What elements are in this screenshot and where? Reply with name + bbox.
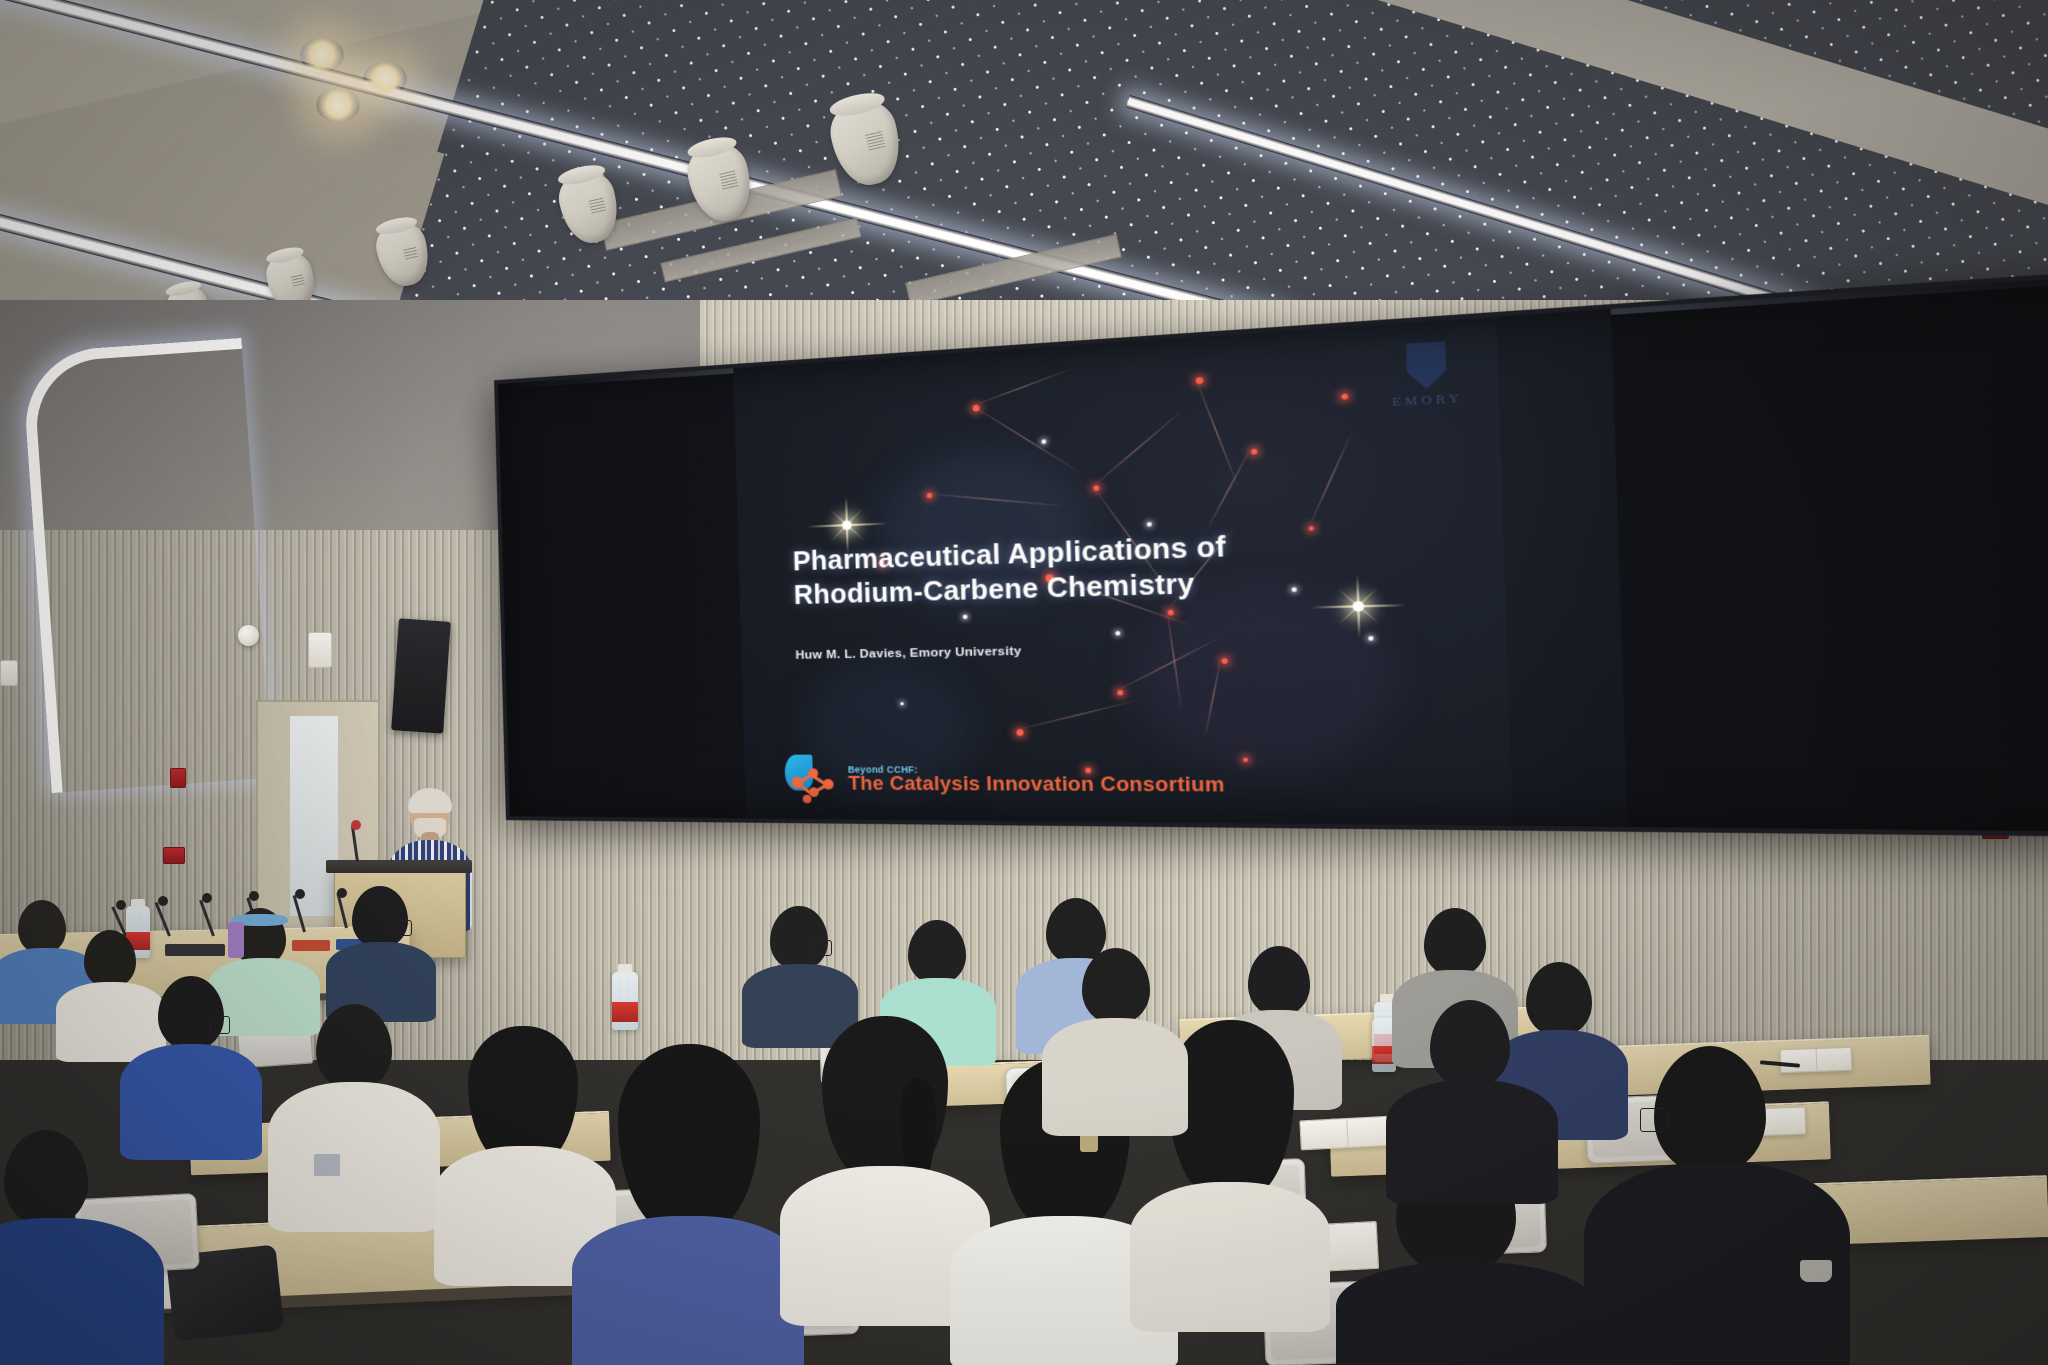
fire-alarm-pull-station [163,847,185,864]
person-head [1248,946,1310,1016]
person-head [316,1004,392,1090]
bench-microphone-head [249,891,259,901]
person-torso [1386,1080,1558,1204]
bench-microphone-head [116,900,126,910]
audience-member [0,1130,150,1365]
person-head [352,886,408,948]
person-torso [572,1216,804,1365]
podium-top-surface [326,860,472,873]
person-torso [1042,1018,1188,1136]
person-head [18,900,66,954]
person-head [4,1130,88,1226]
glasses-icon [210,1016,230,1034]
person-head [1654,1046,1766,1174]
audience-member [128,976,252,1152]
led-video-wall[interactable]: EMORY Pharmaceutical Applications of Rho… [500,380,1900,820]
person-torso [1336,1262,1596,1365]
person-hair [468,1026,578,1166]
water-bottle [612,972,638,1030]
wall-speaker [391,618,451,733]
person-head [158,976,224,1050]
audience-member [1050,948,1178,1128]
glasses-icon [1640,1108,1668,1132]
audience-member [582,1044,792,1365]
jacket-logo-icon [1800,1260,1832,1282]
person-hair [618,1044,760,1234]
person-head [1430,1000,1510,1088]
wall-dome-speaker [238,625,259,646]
person-head [1082,948,1150,1024]
person-head [1424,908,1486,976]
glasses-icon [814,940,832,956]
hair-clip-icon [228,922,244,958]
presenter-hair [408,788,452,813]
bench-microphone-head [202,893,212,903]
fire-alarm-device [170,768,186,788]
podium-microphone-head [351,820,361,830]
led-strip-corner [21,338,272,793]
audience-member [1396,1000,1546,1190]
audience-member [330,886,430,1016]
lecture-hall-photo: EMORY Pharmaceutical Applications of Rho… [0,0,2048,1365]
person-torso [0,1218,164,1365]
shirt-pocket-logo [314,1154,340,1176]
bench-microphone-head [295,889,305,899]
bench-microphone-head [158,896,168,906]
person-head [770,906,828,970]
ceiling-spotlight [363,62,407,96]
wall-access-panel [0,660,18,686]
person-torso [1130,1182,1330,1332]
person-head [908,920,966,984]
ceiling-spotlight [300,38,344,72]
person-torso [268,1082,440,1232]
audience-member [278,1004,428,1224]
audience-member [1600,1046,1830,1365]
glasses-icon [394,920,412,936]
ceiling-spotlight [316,88,360,122]
wall-access-panel [308,632,332,668]
